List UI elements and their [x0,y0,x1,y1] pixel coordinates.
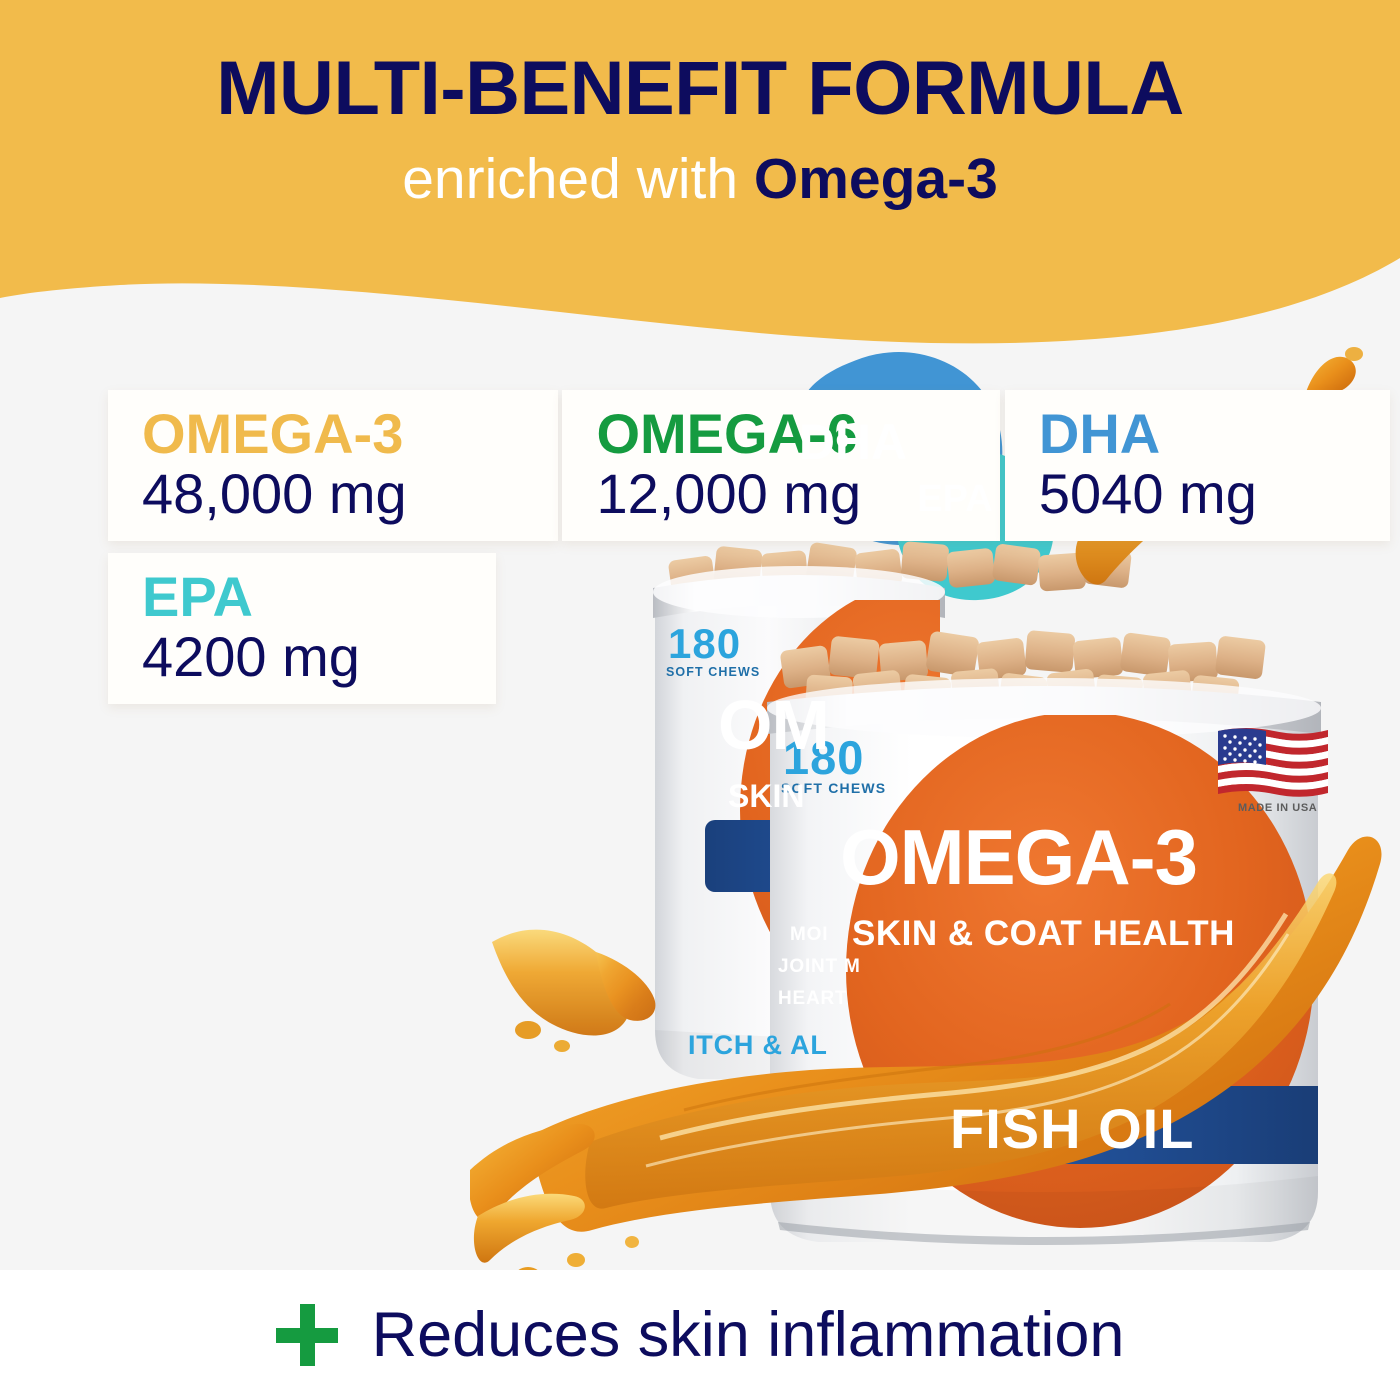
benefit-nutrient-label: DHA [1039,404,1368,463]
benefit-amount-value: 12,000 mg [596,463,978,525]
benefit-nutrient-label: OMEGA-6 [596,404,978,463]
usa-flag-icon [1218,728,1328,797]
subtitle-highlight: Omega-3 [754,147,998,211]
benefit-amount-value: 4200 mg [142,626,474,688]
page-title: MULTI-BENEFIT FORMULA [216,50,1183,128]
benefit-card-epa: EPA 4200 mg [108,553,496,704]
benefit-nutrient-label: OMEGA-3 [142,404,536,463]
benefit-card-omega-6: OMEGA-6 12,000 mg [562,390,1000,541]
page-subtitle: enriched with Omega-3 [402,150,998,210]
subtitle-prefix: enriched with [402,147,754,211]
oil-splash-left [492,930,655,1052]
benefit-amount-value: 48,000 mg [142,463,536,525]
header-text-block: MULTI-BENEFIT FORMULA enriched with Omeg… [0,0,1400,260]
benefit-nutrient-label: EPA [142,567,474,626]
bottom-benefit-banner: Reduces skin inflammation [0,1270,1400,1400]
benefit-card-list: OMEGA-3 48,000 mg OMEGA-6 12,000 mg DHA … [108,390,1400,716]
bottom-benefit-text: Reduces skin inflammation [372,1299,1125,1371]
benefit-card-omega-3: OMEGA-3 48,000 mg [108,390,558,541]
benefit-card-dha: DHA 5040 mg [1005,390,1390,541]
promo-graphic: MULTI-BENEFIT FORMULA enriched with Omeg… [0,0,1400,1400]
plus-icon [276,1304,338,1366]
benefit-amount-value: 5040 mg [1039,463,1368,525]
